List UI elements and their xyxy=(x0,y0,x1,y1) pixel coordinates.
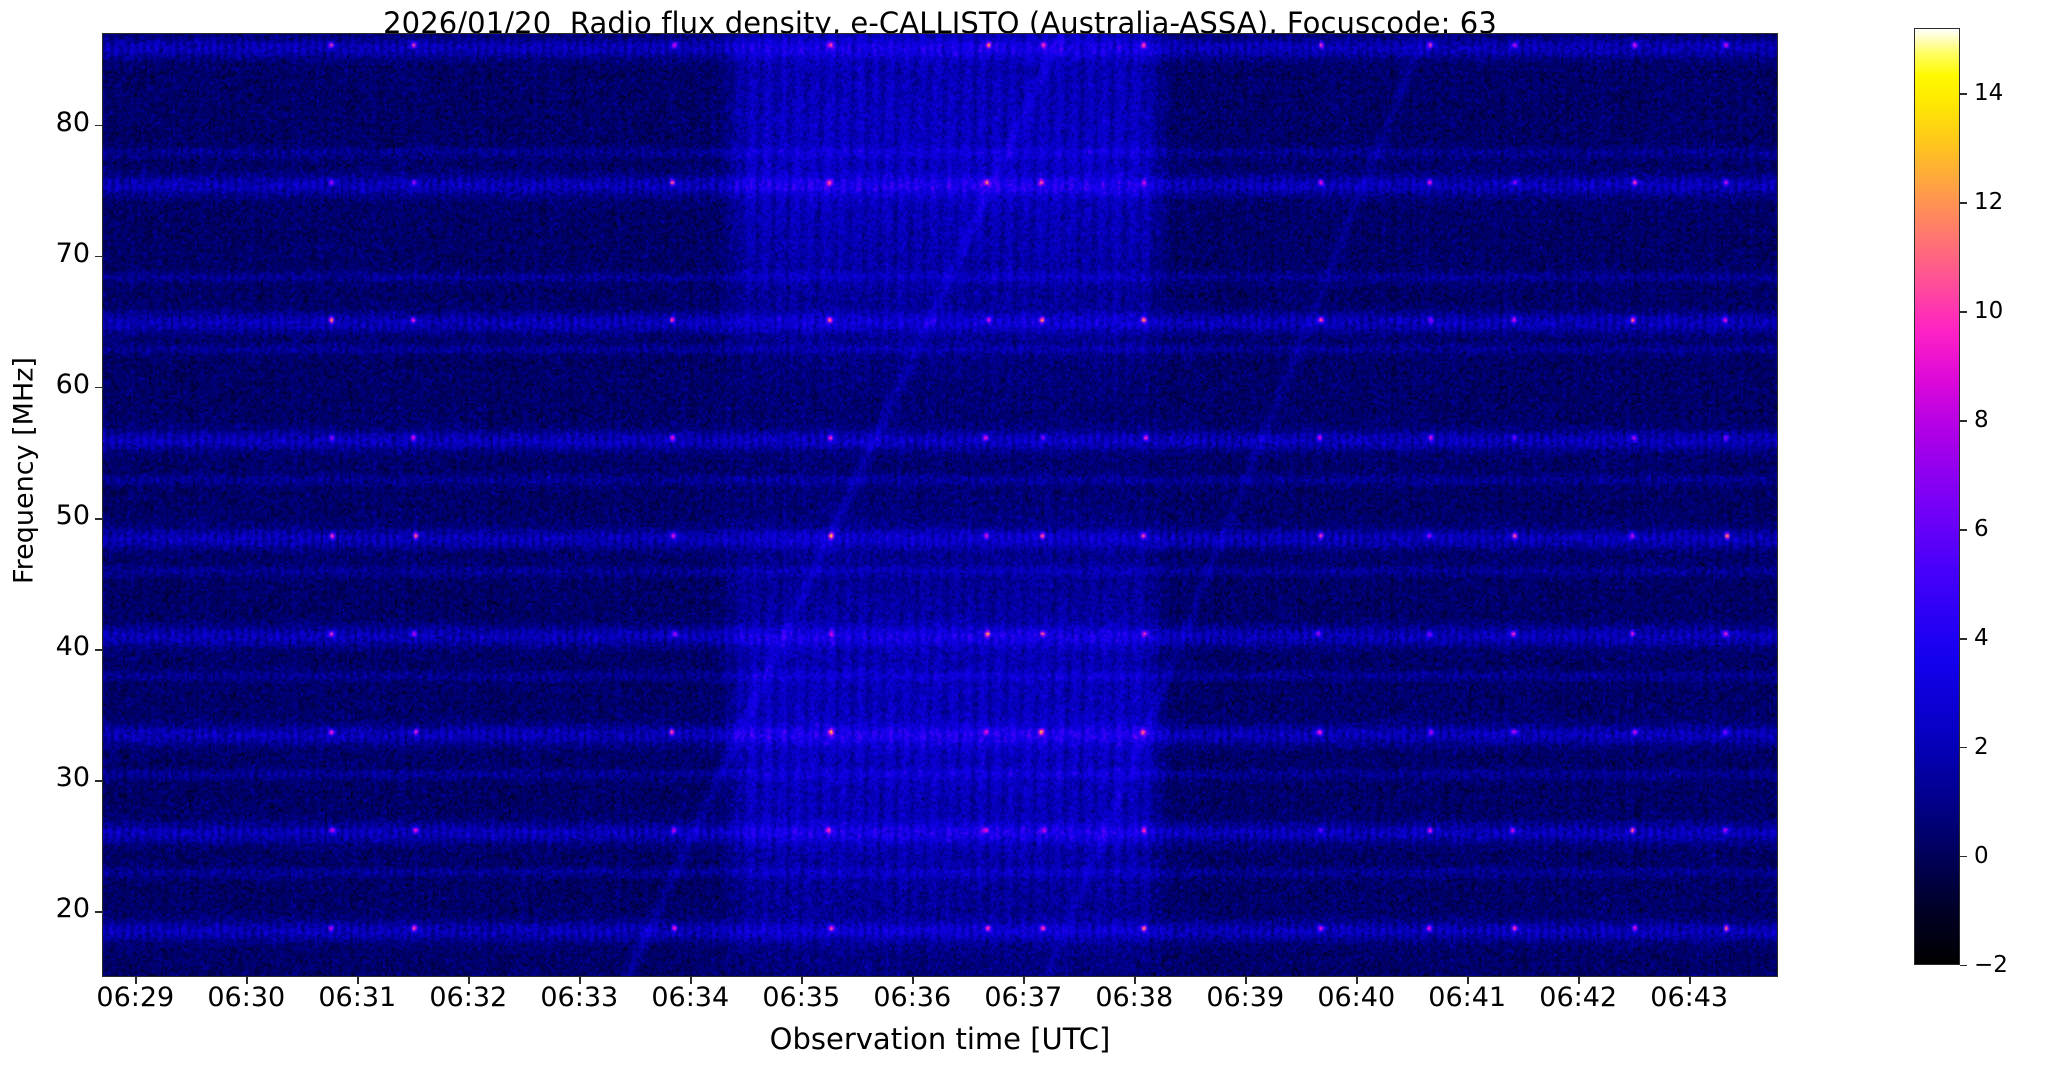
colorbar-tick-mark xyxy=(1960,747,1967,748)
spectrogram-plot-area[interactable] xyxy=(102,33,1778,977)
y-tick-mark xyxy=(95,649,102,650)
y-tick-mark xyxy=(95,911,102,912)
x-tick-label: 06:29 xyxy=(96,982,174,1013)
y-tick-label: 80 xyxy=(40,107,90,138)
colorbar-tick-label: 14 xyxy=(1974,80,2003,106)
x-tick-label: 06:35 xyxy=(762,982,840,1013)
colorbar-tick-mark xyxy=(1960,965,1967,966)
y-tick-mark xyxy=(95,125,102,126)
x-tick-label: 06:32 xyxy=(429,982,507,1013)
x-tick-mark xyxy=(690,977,691,984)
y-tick-label: 20 xyxy=(40,893,90,924)
y-tick-mark xyxy=(95,256,102,257)
colorbar-gradient xyxy=(1915,29,1959,964)
y-axis-label: Frequency [MHz] xyxy=(9,251,40,691)
x-tick-label: 06:42 xyxy=(1539,982,1617,1013)
colorbar[interactable] xyxy=(1914,28,1960,965)
y-tick-label: 60 xyxy=(40,369,90,400)
x-tick-mark xyxy=(579,977,580,984)
x-tick-label: 06:41 xyxy=(1428,982,1506,1013)
x-tick-mark xyxy=(1134,977,1135,984)
colorbar-tick-mark xyxy=(1960,638,1967,639)
x-tick-label: 06:31 xyxy=(318,982,396,1013)
colorbar-tick-mark xyxy=(1960,93,1967,94)
x-tick-label: 06:36 xyxy=(873,982,951,1013)
y-tick-mark xyxy=(95,518,102,519)
colorbar-tick-mark xyxy=(1960,856,1967,857)
colorbar-tick-mark xyxy=(1960,311,1967,312)
colorbar-tick-label: 0 xyxy=(1974,843,1989,869)
colorbar-tick-mark xyxy=(1960,202,1967,203)
colorbar-tick-label: 6 xyxy=(1974,516,1989,542)
x-tick-label: 06:33 xyxy=(540,982,618,1013)
x-tick-mark xyxy=(1356,977,1357,984)
colorbar-tick-label: 12 xyxy=(1974,189,2003,215)
y-tick-label: 40 xyxy=(40,631,90,662)
x-tick-mark xyxy=(1467,977,1468,984)
x-tick-label: 06:43 xyxy=(1650,982,1728,1013)
x-tick-mark xyxy=(135,977,136,984)
spectrogram-image xyxy=(103,34,1777,976)
y-tick-mark xyxy=(95,780,102,781)
colorbar-tick-label: 10 xyxy=(1974,298,2003,324)
y-tick-label: 50 xyxy=(40,500,90,531)
colorbar-tick-label: 2 xyxy=(1974,734,1989,760)
colorbar-tick-mark xyxy=(1960,420,1967,421)
spectrogram-figure: 2026/01/20 Radio flux density, e-CALLIST… xyxy=(0,0,2047,1067)
colorbar-tick-label: 8 xyxy=(1974,407,1989,433)
x-tick-mark xyxy=(1023,977,1024,984)
x-tick-label: 06:30 xyxy=(207,982,285,1013)
x-tick-label: 06:39 xyxy=(1206,982,1284,1013)
x-tick-mark xyxy=(357,977,358,984)
x-tick-mark xyxy=(246,977,247,984)
colorbar-tick-label: 4 xyxy=(1974,625,1989,651)
colorbar-tick-label: −2 xyxy=(1974,952,2008,978)
x-tick-label: 06:40 xyxy=(1317,982,1395,1013)
x-tick-label: 06:34 xyxy=(651,982,729,1013)
x-tick-mark xyxy=(468,977,469,984)
colorbar-tick-mark xyxy=(1960,529,1967,530)
x-tick-label: 06:38 xyxy=(1095,982,1173,1013)
x-axis-label: Observation time [UTC] xyxy=(102,1022,1778,1056)
x-tick-mark xyxy=(1578,977,1579,984)
x-tick-mark xyxy=(912,977,913,984)
y-tick-label: 30 xyxy=(40,762,90,793)
y-tick-label: 70 xyxy=(40,238,90,269)
x-tick-mark xyxy=(801,977,802,984)
x-tick-mark xyxy=(1245,977,1246,984)
x-tick-label: 06:37 xyxy=(984,982,1062,1013)
x-tick-mark xyxy=(1689,977,1690,984)
y-tick-mark xyxy=(95,387,102,388)
